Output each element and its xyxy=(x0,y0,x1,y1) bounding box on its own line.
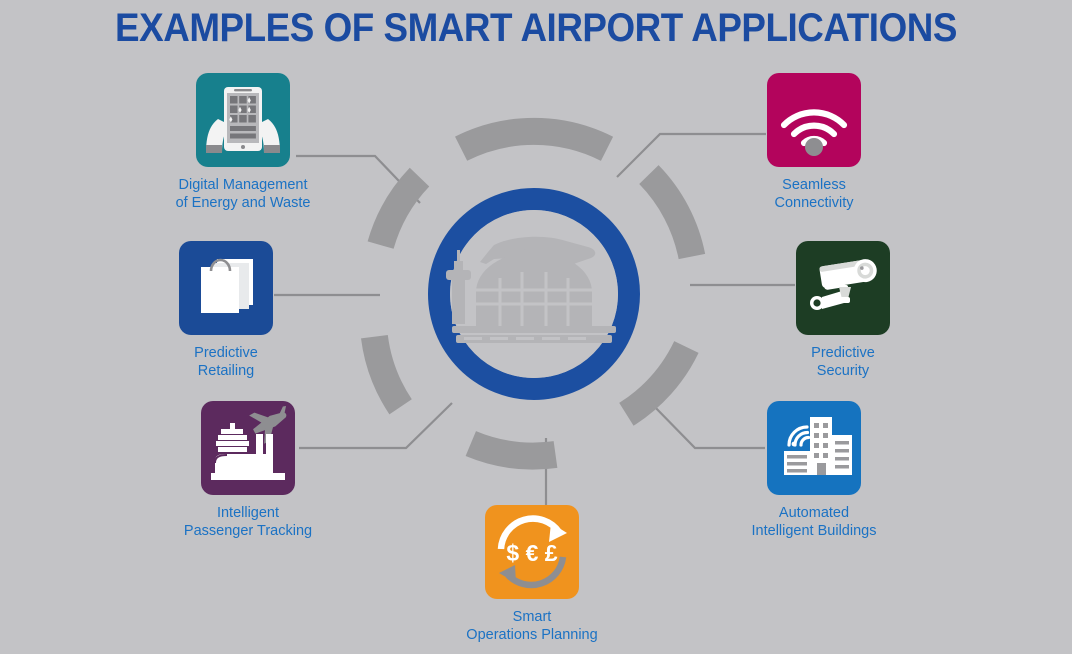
wifi-signal-icon xyxy=(767,73,861,167)
smart-buildings-wifi-icon xyxy=(767,401,861,495)
tile-automated-intelligent-buildings[interactable] xyxy=(767,401,861,495)
tile-intelligent-passenger-tracking[interactable] xyxy=(201,401,295,495)
node-intelligent-passenger-tracking[interactable]: Intelligent Passenger Tracking xyxy=(148,401,348,540)
caption-intelligent-passenger-tracking: Intelligent Passenger Tracking xyxy=(148,504,348,540)
node-predictive-security[interactable]: Predictive Security xyxy=(743,241,943,380)
caption-automated-intelligent-buildings: Automated Intelligent Buildings xyxy=(714,504,914,540)
node-smart-operations-planning[interactable]: $ € £ Smart Operations Planning xyxy=(432,505,632,644)
tile-predictive-security[interactable] xyxy=(796,241,890,335)
caption-digital-management: Digital Management of Energy and Waste xyxy=(143,176,343,212)
currency-refresh-cycle-icon: $ € £ xyxy=(485,505,579,599)
node-predictive-retailing[interactable]: Predictive Retailing xyxy=(126,241,326,380)
node-seamless-connectivity[interactable]: Seamless Connectivity xyxy=(714,73,914,212)
currency-symbols-text: $ € £ xyxy=(506,540,557,566)
node-automated-intelligent-buildings[interactable]: Automated Intelligent Buildings xyxy=(714,401,914,540)
shopping-bags-icon xyxy=(179,241,273,335)
tile-smart-operations-planning[interactable]: $ € £ xyxy=(485,505,579,599)
tile-digital-management[interactable] xyxy=(196,73,290,167)
security-camera-icon xyxy=(796,241,890,335)
caption-smart-operations-planning: Smart Operations Planning xyxy=(432,608,632,644)
caption-seamless-connectivity: Seamless Connectivity xyxy=(714,176,914,212)
caption-predictive-retailing: Predictive Retailing xyxy=(126,344,326,380)
tile-seamless-connectivity[interactable] xyxy=(767,73,861,167)
tile-predictive-retailing[interactable] xyxy=(179,241,273,335)
node-digital-management[interactable]: Digital Management of Energy and Waste xyxy=(143,73,343,212)
hands-holding-tablet-icon xyxy=(196,73,290,167)
airport-buildings-airplane-icon xyxy=(201,401,295,495)
infographic-canvas: EXAMPLES OF SMART AIRPORT APPLICATIONS xyxy=(0,0,1072,654)
caption-predictive-security: Predictive Security xyxy=(743,344,943,380)
